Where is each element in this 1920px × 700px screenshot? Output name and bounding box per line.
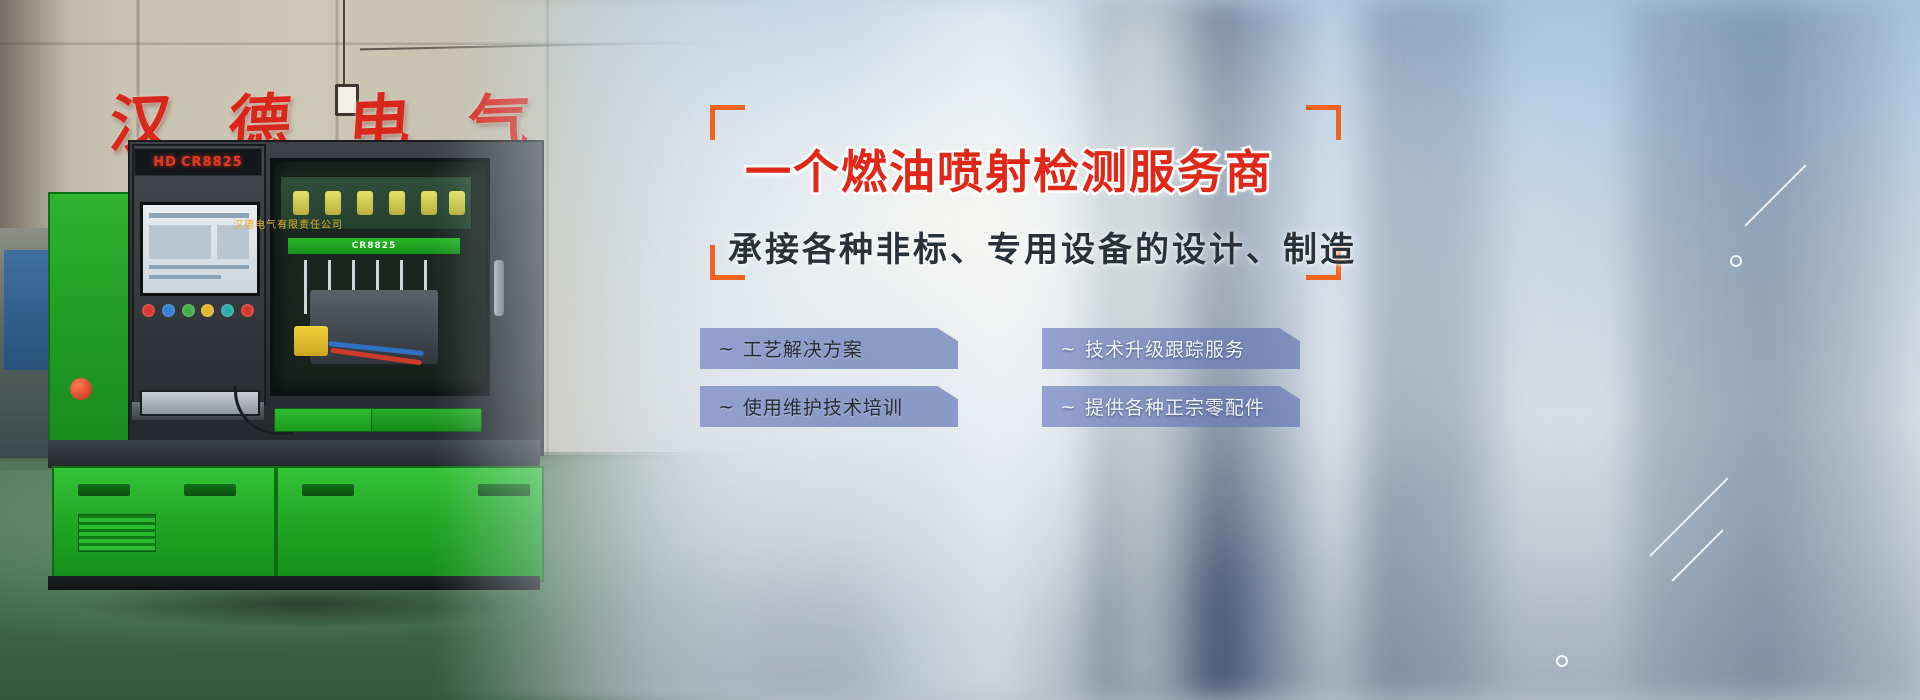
- headline: 一个燃油喷射检测服务商: [745, 136, 1273, 202]
- cabinet-louvre-icon: [78, 514, 156, 552]
- decor-dot-2: [1556, 655, 1568, 667]
- cabinet-handle-left-2[interactable]: [184, 484, 236, 496]
- tag-tilde-1: ~: [718, 338, 735, 360]
- tag-tilde-3: ~: [718, 396, 735, 418]
- service-tag-grid: ~ 工艺解决方案 ~ 技术升级跟踪服务 ~ 使用维护技术培训 ~ 提供各种正宗零…: [700, 328, 1300, 444]
- tag-tilde-2: ~: [1060, 338, 1077, 360]
- product-photo: 汉 德 电 气 HD CR8825: [0, 0, 780, 700]
- service-tag-label-2: 技术升级跟踪服务: [1085, 335, 1245, 362]
- machine-button-row: [142, 300, 254, 320]
- cabinet-caption: 汉德电气有限责任公司: [188, 216, 388, 231]
- subheadline: 承接各种非标、专用设备的设计、制造: [728, 222, 1357, 271]
- tag-tilde-4: ~: [1060, 396, 1077, 418]
- hero-banner: 汉 德 电 气 HD CR8825: [0, 0, 1920, 700]
- service-tag-row-1: ~ 工艺解决方案 ~ 技术升级跟踪服务: [700, 328, 1300, 369]
- service-tag-label-4: 提供各种正宗零配件: [1085, 393, 1265, 420]
- service-tag-4[interactable]: ~ 提供各种正宗零配件: [1042, 386, 1300, 427]
- machine-cabinet-left: [52, 466, 276, 582]
- machine-left-green-panel: [48, 192, 134, 456]
- bracket-top-right-icon: [1306, 105, 1341, 140]
- cabinet-handle-right[interactable]: [302, 484, 354, 496]
- service-tag-2[interactable]: ~ 技术升级跟踪服务: [1042, 328, 1300, 369]
- service-tag-label-3: 使用维护技术培训: [743, 393, 903, 420]
- decor-dot-1: [1730, 255, 1742, 267]
- emergency-stop-icon: [70, 378, 92, 400]
- service-tag-1[interactable]: ~ 工艺解决方案: [700, 328, 958, 369]
- bracket-top-left-icon: [710, 105, 745, 140]
- cabinet-handle-left[interactable]: [78, 484, 130, 496]
- machine-model-badge: HD CR8825: [134, 148, 262, 176]
- service-tag-label-1: 工艺解决方案: [743, 335, 863, 362]
- yellow-fixture-icon: [294, 326, 328, 356]
- machine-model-text: CR8825: [181, 155, 243, 170]
- background-blue-crate: [4, 250, 48, 370]
- service-tag-3[interactable]: ~ 使用维护技术培训: [700, 386, 958, 427]
- brand-mark-icon: HD: [153, 155, 177, 170]
- machine-green-vent-left: [274, 408, 372, 432]
- service-tag-row-2: ~ 使用维护技术培训 ~ 提供各种正宗零配件: [700, 386, 1300, 427]
- lamp-cord-icon: [343, 0, 345, 86]
